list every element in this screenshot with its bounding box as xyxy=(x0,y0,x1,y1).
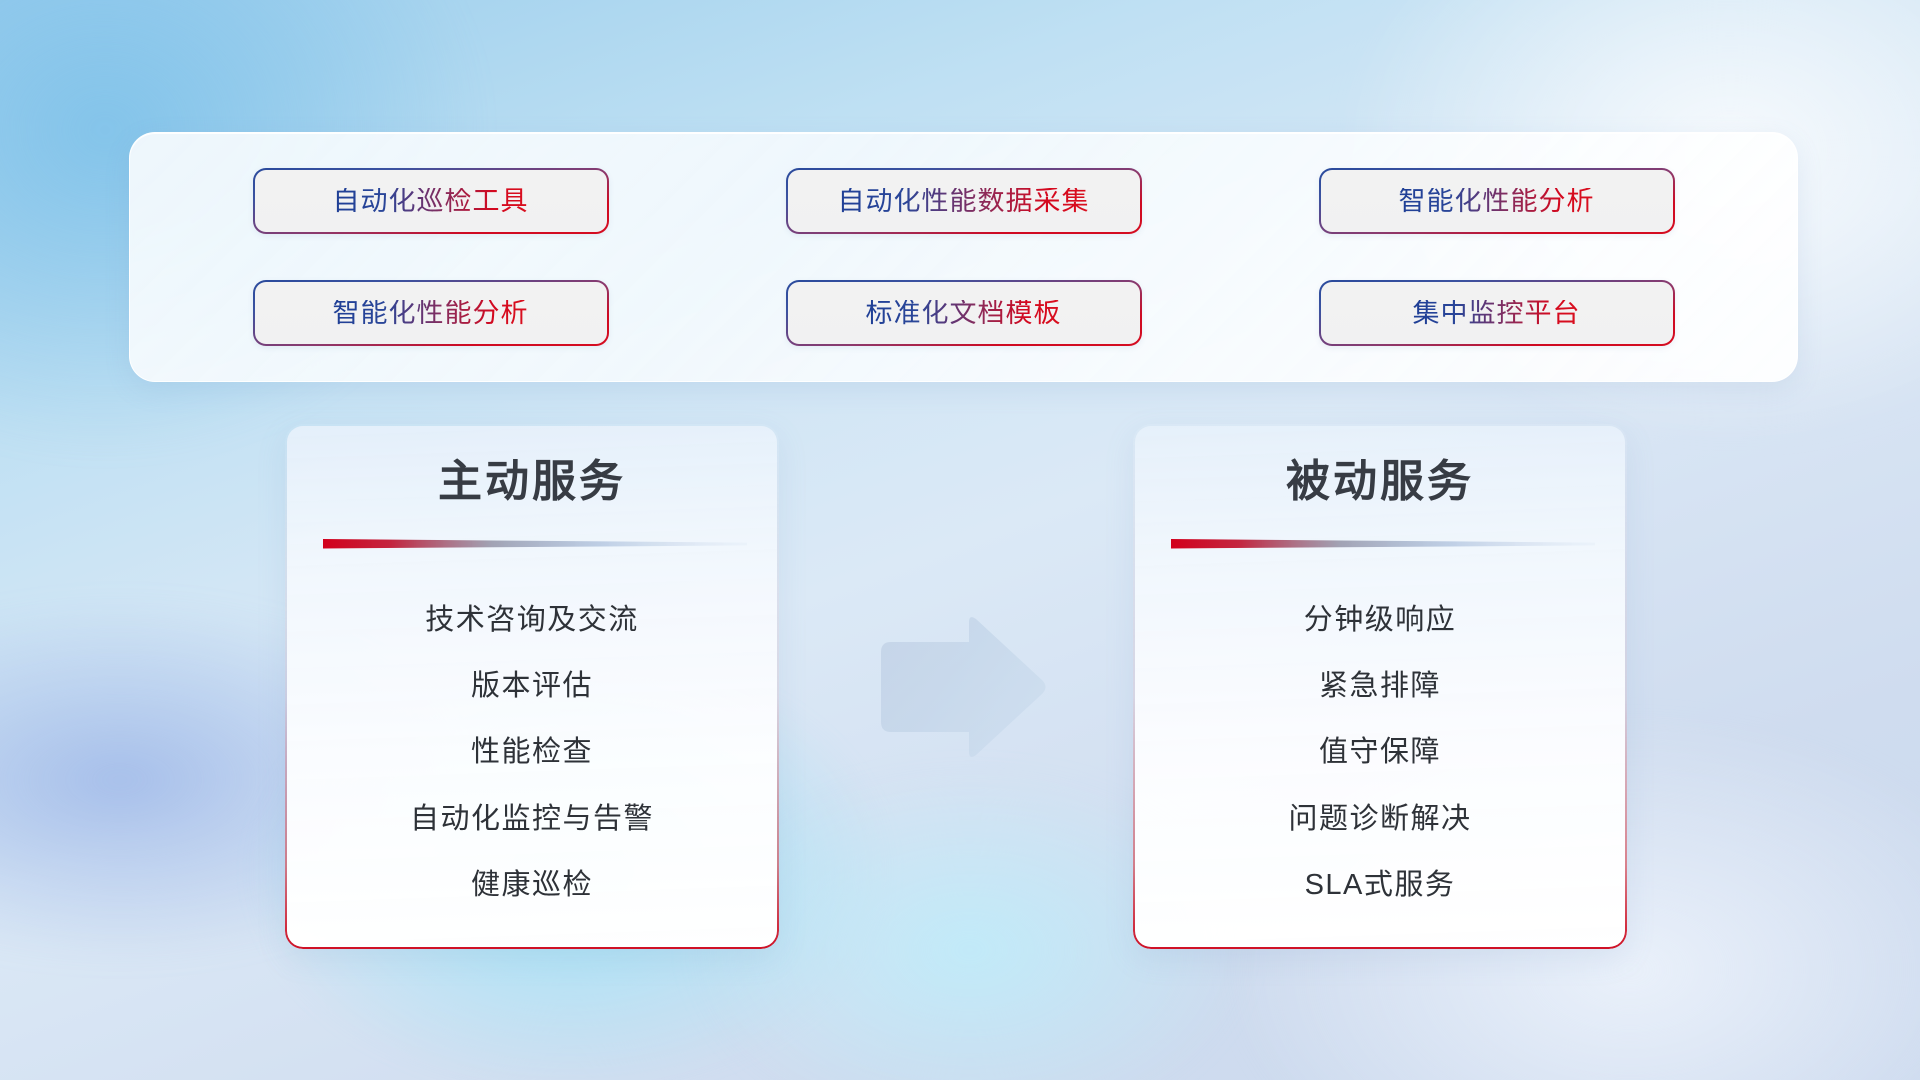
capability-pill-label: 自动化巡检工具 xyxy=(333,188,529,215)
list-item: 分钟级响应 xyxy=(1304,606,1457,635)
service-list-passive: 分钟级响应 紧急排障 值守保障 问题诊断解决 SLA式服务 xyxy=(1135,581,1625,929)
capability-pill-4[interactable]: 智能化性能分析 xyxy=(253,280,609,346)
capability-pill-1[interactable]: 自动化巡检工具 xyxy=(253,168,609,234)
list-item: 健康巡检 xyxy=(471,871,593,900)
card-divider-active xyxy=(323,538,747,549)
list-item: 值守保障 xyxy=(1319,738,1441,767)
list-item: 性能检查 xyxy=(471,738,593,767)
list-item: 紧急排障 xyxy=(1319,672,1441,701)
capability-pill-5[interactable]: 标准化文档模板 xyxy=(786,280,1142,346)
list-item: 版本评估 xyxy=(471,672,593,701)
infographic-canvas: 自动化巡检工具 自动化性能数据采集 智能化性能分析 智能化性能分析 标准化文档模… xyxy=(0,0,1920,1080)
card-title-passive: 被动服务 xyxy=(1135,458,1625,506)
capability-pill-grid: 自动化巡检工具 自动化性能数据采集 智能化性能分析 智能化性能分析 标准化文档模… xyxy=(130,133,1797,381)
capability-pill-label: 标准化文档模板 xyxy=(866,300,1062,327)
list-item: 问题诊断解决 xyxy=(1288,805,1471,834)
capability-pill-label: 智能化性能分析 xyxy=(1399,188,1595,215)
arrow-right-icon xyxy=(873,612,1049,762)
capability-pill-label: 自动化性能数据采集 xyxy=(838,188,1090,215)
card-divider-passive xyxy=(1171,538,1595,549)
capability-pill-3[interactable]: 智能化性能分析 xyxy=(1319,168,1675,234)
service-list-active: 技术咨询及交流 版本评估 性能检查 自动化监控与告警 健康巡检 xyxy=(287,581,777,929)
capability-panel: 自动化巡检工具 自动化性能数据采集 智能化性能分析 智能化性能分析 标准化文档模… xyxy=(129,132,1798,382)
service-card-passive[interactable]: 被动服务 分钟级响应 紧急排障 值守保障 问题诊断解决 SLA式服务 xyxy=(1133,424,1627,949)
capability-pill-label: 集中监控平台 xyxy=(1413,300,1581,327)
capability-pill-6[interactable]: 集中监控平台 xyxy=(1319,280,1675,346)
capability-pill-2[interactable]: 自动化性能数据采集 xyxy=(786,168,1142,234)
list-item: 自动化监控与告警 xyxy=(410,805,654,834)
capability-pill-label: 智能化性能分析 xyxy=(333,300,529,327)
list-item: 技术咨询及交流 xyxy=(425,606,639,635)
card-title-active: 主动服务 xyxy=(287,458,777,506)
list-item: SLA式服务 xyxy=(1305,871,1456,900)
service-card-active[interactable]: 主动服务 技术咨询及交流 版本评估 性能检查 自动化监控与告警 健康巡检 xyxy=(285,424,779,949)
